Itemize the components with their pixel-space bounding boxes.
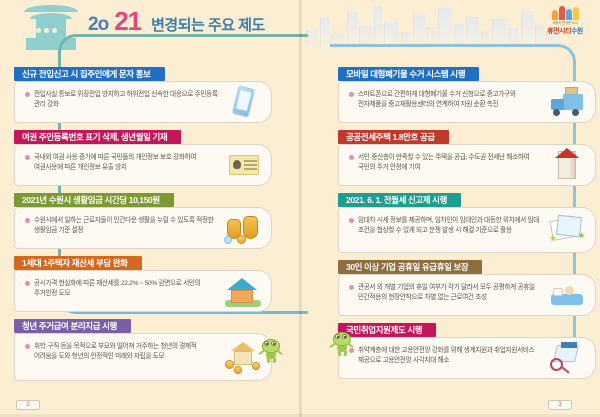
page-title: 2o 21 변경되는 주요 제도 [88,8,265,36]
left-policy-column: 신규 전입신고 시 집주인에게 문자 통보 전입사실 통보로 위장전입 방지하고… [14,64,272,385]
suwon-city-logo: 사람이 반가운 도시 휴먼시티수원 [538,4,592,36]
policy-description: 서민·중산층이 만족할 수 있는 주택을 공급, 수도권 전세난 해소하여 국민… [358,153,543,173]
policy-header: 공공전세주택 1.8만호 공급 [338,130,449,144]
policy-card: 공공전세주택 1.8만호 공급 서민·중산층이 만족할 수 있는 주택을 공급,… [338,127,596,186]
logo-name-secondary: 수원 [571,28,583,35]
policy-description: 취학·구직 등을 목적으로 부모와 떨어져 거주하는 청년의 경제적 어려움을 … [34,342,219,362]
policy-body: 공시가격 현실화에 따른 재산세를 22.2% ~ 50% 감면으로 서민의 주… [14,270,272,312]
bullet-dot-icon [349,285,354,290]
bullet-dot-icon [349,92,354,97]
logo-name: 휴먼시티수원 [538,26,592,36]
page-number-right: 3 [548,400,572,410]
bullet-dot-icon [25,344,30,349]
bullet-dot-icon [25,155,30,160]
documents-icon: ★★ [547,213,589,247]
policy-description: 전입사실 통보로 위장전입 방지하고 허위전입 신속한 대응으로 주민등록 관리… [34,90,219,110]
policy-card: 신규 전입신고 시 집주인에게 문자 통보 전입사실 통보로 위장전입 방지하고… [14,64,272,123]
policy-card: 30인 이상 기업 공휴일 유급휴일 보장 관공서 외 개별 기업의 휴일 여부… [338,257,596,316]
policy-header: 신규 전입신고 시 집주인에게 문자 통보 [14,67,165,81]
policy-description: 스마트폰으로 간편하게 대형폐기물 수거 신청으로 중고가구와 전자제품을 중고… [358,90,543,110]
title-subject: 변경되는 주요 제도 [151,14,265,35]
mascot-character-right [329,330,355,356]
policy-description: 취약계층에 대한 고용안전망 강화를 위해 생계지원과 취업지원서비스 제공으로… [358,346,543,366]
logo-figures-icon [538,4,592,20]
policy-body: 스마트폰으로 간편하게 대형폐기물 수거 신청으로 중고가구와 전자제품을 중고… [338,81,596,123]
policy-header: 청년 주거급여 분리지급 시행 [14,319,131,333]
policy-body: 국내외 여권 사용 증가에 따른 국민들의 개인정보 보호 강화하여 여권사용에… [14,144,272,186]
policy-card: 여권 주민등록번호 표기 삭제, 생년월일 기재 국내외 여권 사용 증가에 따… [14,127,272,186]
policy-card: 1세대 1주택자 재산세 부담 완화 공시가격 현실화에 따른 재산세를 22.… [14,253,272,312]
policy-body: 취약계층에 대한 고용안전망 강화를 위해 생계지원과 취업지원서비스 제공으로… [338,337,596,379]
bullet-dot-icon [25,281,30,286]
money-bag-icon [223,211,265,245]
policy-header: 30인 이상 기업 공휴일 유급휴일 보장 [338,260,482,274]
truck-icon [547,85,589,119]
rest-bed-icon [547,278,589,312]
policy-card: 2021년 수원시 생활임금 시간당 10,150원 수원시에서 일하는 근로자… [14,190,272,249]
policy-body: 취학·구직 등을 목적으로 부모와 떨어져 거주하는 청년의 경제적 어려움을 … [14,333,272,381]
suwon-gate-icon [22,2,80,50]
id-card-icon [223,148,265,182]
book-spine-shadow [299,0,302,417]
policy-header: 2021년 수원시 생활임금 시간당 10,150원 [14,193,174,207]
policy-description: 관공서 외 개별 기업의 휴일 여부가 각기 달라서 모두 공평하게 공휴일 민… [358,283,543,303]
policy-body: 수원시에서 일하는 근로자들이 인간다운 생활을 누릴 수 있도록 적정한 생활… [14,207,272,249]
house-icon [223,274,265,308]
red-roof-house-icon [547,148,589,182]
page-number-left: 2 [16,400,40,410]
policy-card: 모바일 대형폐기물 수거 시스템 시행 스마트폰으로 간편하게 대형폐기물 수거… [338,64,596,123]
logo-name-primary: 휴먼시티 [547,28,571,35]
policy-description: 임대차 시세 정보를 제공하며, 임차인이 임대인과 대등한 위치에서 임대 조… [358,216,543,236]
policy-description: 공시가격 현실화에 따른 재산세를 22.2% ~ 50% 감면으로 서민의 주… [34,279,219,299]
policy-header: 1세대 1주택자 재산세 부담 완화 [14,256,142,270]
bullet-dot-icon [349,155,354,160]
mascot-character-left [258,337,284,363]
bullet-dot-icon [25,92,30,97]
policy-body: 서민·중산층이 만족할 수 있는 주택을 공급, 수도권 전세난 해소하여 국민… [338,144,596,186]
title-year-prefix: 2o [88,14,108,36]
policy-card: 청년 주거급여 분리지급 시행 취학·구직 등을 목적으로 부모와 떨어져 거주… [14,316,272,381]
title-year-main: 21 [114,8,141,34]
brochure-page: 2o 21 변경되는 주요 제도 사람이 반가운 도시 휴먼시티수원 신규 전입… [0,0,600,417]
policy-header: 여권 주민등록번호 표기 삭제, 생년월일 기재 [14,130,181,144]
policy-header: 모바일 대형폐기물 수거 시스템 시행 [338,67,479,81]
policy-description: 국내외 여권 사용 증가에 따른 국민들의 개인정보 보호 강화하여 여권사용에… [34,153,219,173]
policy-card: 국민취업지원제도 시행 취약계층에 대한 고용안전망 강화를 위해 생계지원과 … [338,320,596,379]
right-policy-column: 모바일 대형폐기물 수거 시스템 시행 스마트폰으로 간편하게 대형폐기물 수거… [338,64,596,383]
policy-header: 2021. 6. 1. 전월세 신고제 시행 [338,193,461,207]
smartphone-icon [223,85,265,119]
policy-description: 수원시에서 일하는 근로자들이 인간다운 생활을 누릴 수 있도록 적정한 생활… [34,216,219,236]
policy-body: 임대차 시세 정보를 제공하며, 임차인이 임대인과 대등한 위치에서 임대 조… [338,207,596,253]
bullet-dot-icon [349,218,354,223]
policy-card: 2021. 6. 1. 전월세 신고제 시행 임대차 시세 정보를 제공하며, … [338,190,596,253]
policy-body: 관공서 외 개별 기업의 휴일 여부가 각기 달라서 모두 공평하게 공휴일 민… [338,274,596,316]
bullet-dot-icon [25,218,30,223]
magnifier-doc-icon [547,341,589,375]
policy-body: 전입사실 통보로 위장전입 방지하고 허위전입 신속한 대응으로 주민등록 관리… [14,81,272,123]
